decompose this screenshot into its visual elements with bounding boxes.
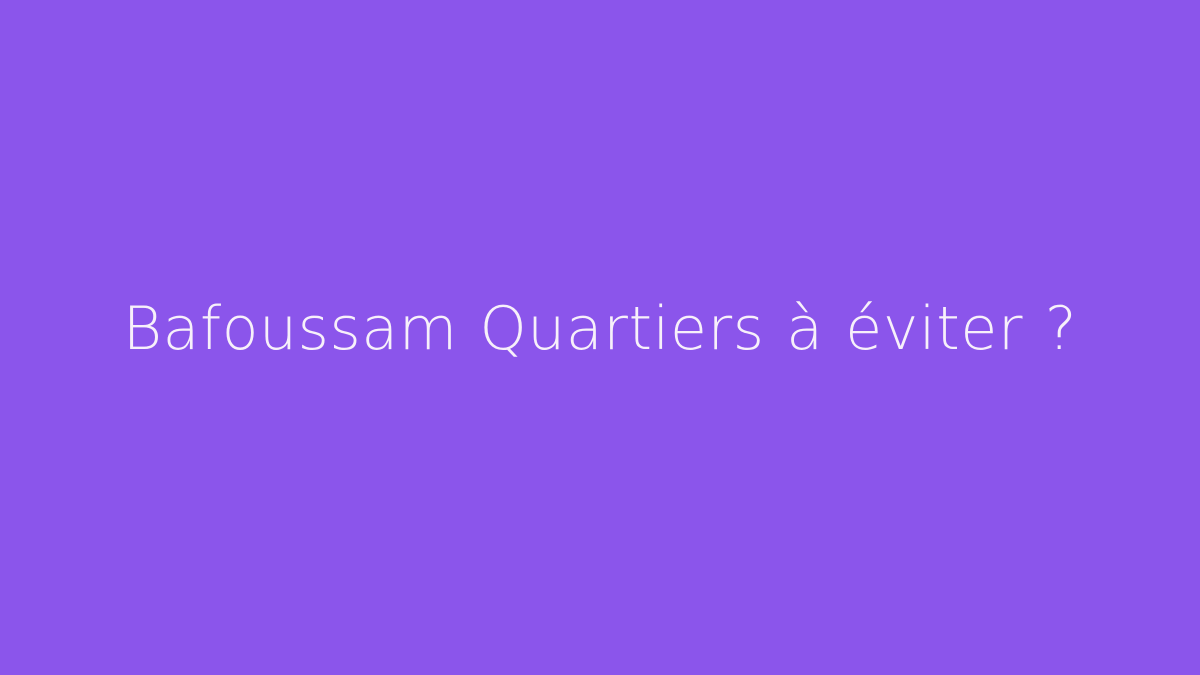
page-title: Bafoussam Quartiers à éviter ?: [123, 296, 1077, 363]
poster-content: Bafoussam Quartiers à éviter ?: [60, 296, 1140, 363]
poster-background: Bafoussam Quartiers à éviter ?: [0, 0, 1200, 675]
